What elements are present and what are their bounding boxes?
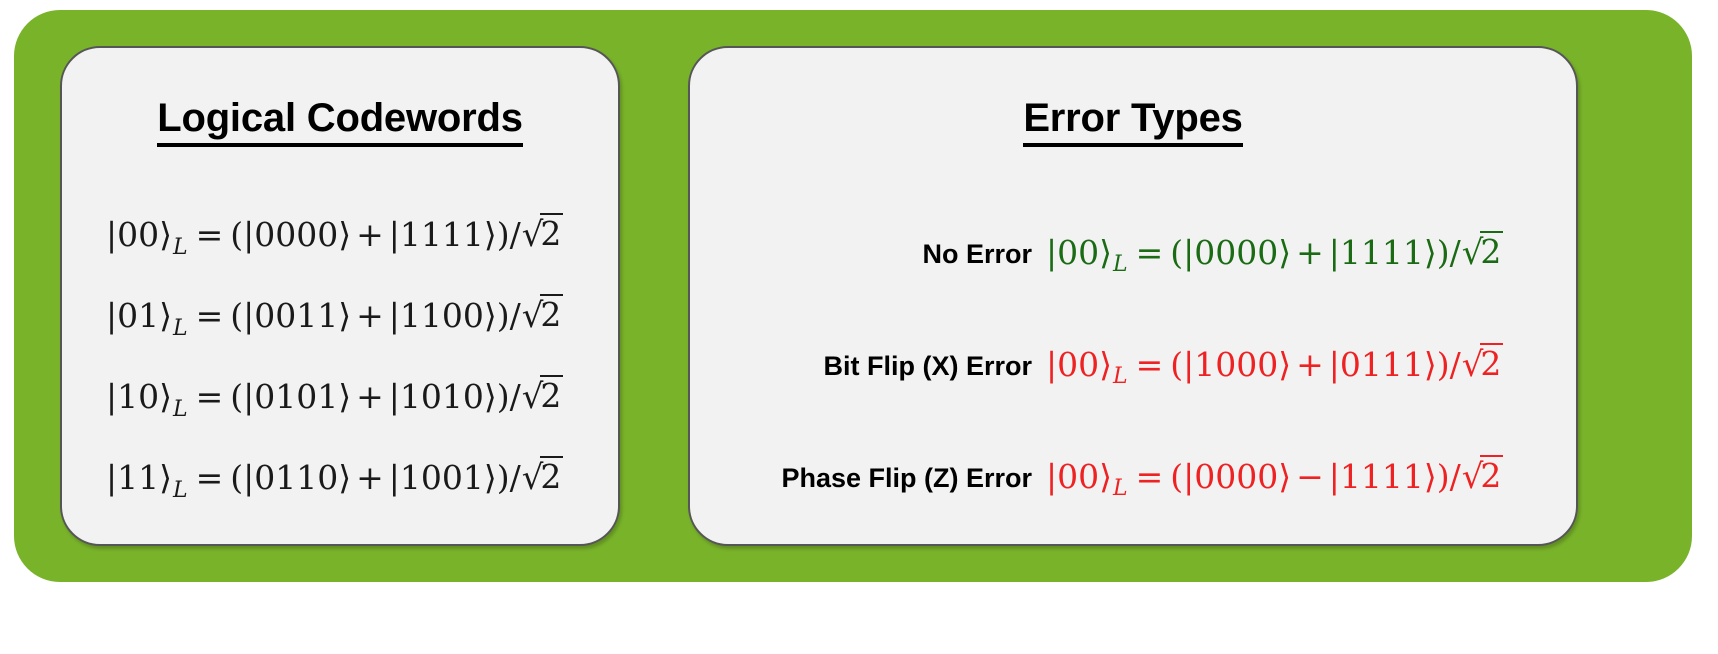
ket-label: |00⟩ — [1046, 345, 1112, 384]
green-outer-frame: Logical Codewords |00⟩L=(|0000⟩+|1111⟩)/… — [14, 10, 1692, 582]
square-root: √2 — [521, 376, 564, 414]
state-equation: |00⟩L=(|1000⟩+|0111⟩)/√2 — [1046, 344, 1503, 388]
radicand: 2 — [1480, 343, 1503, 380]
radicand: 2 — [1480, 455, 1503, 492]
codeword-row: |00⟩L=(|0000⟩+|1111⟩)/√2 — [106, 196, 586, 277]
error-list: No Error|00⟩L=(|0000⟩+|1111⟩)/√2Bit Flip… — [714, 198, 1556, 534]
ket-label: |01⟩ — [106, 296, 172, 335]
logical-codewords-card: Logical Codewords |00⟩L=(|0000⟩+|1111⟩)/… — [60, 46, 620, 546]
square-root: √2 — [1461, 232, 1504, 270]
state-equation: |10⟩L=(|0101⟩+|1010⟩)/√2 — [106, 376, 563, 420]
close-paren-slash: )/ — [497, 458, 521, 497]
term-two: |1111⟩ — [389, 215, 497, 254]
operator-sign: + — [1291, 345, 1329, 384]
equals-sign: = — [1129, 345, 1171, 384]
close-paren-slash: )/ — [1437, 345, 1461, 384]
term-two: |1111⟩ — [1329, 233, 1437, 272]
state-equation: |11⟩L=(|0110⟩+|1001⟩)/√2 — [106, 457, 563, 501]
equals-sign: = — [189, 458, 231, 497]
square-root: √2 — [521, 295, 564, 333]
term-two: |1111⟩ — [1329, 457, 1437, 496]
error-type-label: Phase Flip (Z) Error — [714, 463, 1046, 494]
codeword-row: |01⟩L=(|0011⟩+|1100⟩)/√2 — [106, 277, 586, 358]
radicand: 2 — [1480, 231, 1503, 268]
state-equation: |01⟩L=(|0011⟩+|1100⟩)/√2 — [106, 295, 563, 339]
term-one: |0101⟩ — [243, 377, 351, 416]
open-paren: ( — [230, 377, 243, 416]
open-paren: ( — [1170, 345, 1183, 384]
ket-subscript: L — [172, 397, 189, 422]
ket-label: |00⟩ — [1046, 233, 1112, 272]
equals-sign: = — [1129, 457, 1171, 496]
state-equation: |00⟩L=(|0000⟩+|1111⟩)/√2 — [106, 214, 563, 258]
error-row: Phase Flip (Z) Error|00⟩L=(|0000⟩−|1111⟩… — [714, 422, 1556, 534]
error-types-card: Error Types No Error|00⟩L=(|0000⟩+|1111⟩… — [688, 46, 1578, 546]
operator-sign: + — [351, 215, 389, 254]
square-root: √2 — [1461, 456, 1504, 494]
error-state-equation-wrapper: |00⟩L=(|0000⟩−|1111⟩)/√2 — [1046, 456, 1503, 500]
error-type-label: Bit Flip (X) Error — [714, 351, 1046, 382]
operator-sign: + — [351, 377, 389, 416]
square-root: √2 — [1461, 344, 1504, 382]
equals-sign: = — [189, 215, 231, 254]
open-paren: ( — [1170, 457, 1183, 496]
open-paren: ( — [230, 458, 243, 497]
ket-subscript: L — [1112, 252, 1129, 277]
close-paren-slash: )/ — [497, 377, 521, 416]
error-types-title-text: Error Types — [1023, 96, 1242, 147]
codeword-row: |11⟩L=(|0110⟩+|1001⟩)/√2 — [106, 439, 586, 520]
term-one: |0011⟩ — [243, 296, 351, 335]
ket-label: |00⟩ — [106, 215, 172, 254]
ket-subscript: L — [1112, 476, 1129, 501]
ket-label: |00⟩ — [1046, 457, 1112, 496]
close-paren-slash: )/ — [497, 296, 521, 335]
close-paren-slash: )/ — [497, 215, 521, 254]
operator-sign: + — [351, 296, 389, 335]
radicand: 2 — [540, 213, 563, 250]
operator-sign: + — [351, 458, 389, 497]
error-state-equation-wrapper: |00⟩L=(|0000⟩+|1111⟩)/√2 — [1046, 232, 1503, 276]
ket-label: |10⟩ — [106, 377, 172, 416]
term-one: |0000⟩ — [243, 215, 351, 254]
term-two: |1100⟩ — [389, 296, 497, 335]
ket-subscript: L — [172, 478, 189, 503]
error-state-equation-wrapper: |00⟩L=(|1000⟩+|0111⟩)/√2 — [1046, 344, 1503, 388]
square-root: √2 — [521, 214, 564, 252]
close-paren-slash: )/ — [1437, 457, 1461, 496]
ket-label: |11⟩ — [106, 458, 172, 497]
term-one: |1000⟩ — [1183, 345, 1291, 384]
quantum-code-figure: Logical Codewords |00⟩L=(|0000⟩+|1111⟩)/… — [0, 0, 1718, 654]
close-paren-slash: )/ — [1437, 233, 1461, 272]
ket-subscript: L — [172, 235, 189, 260]
open-paren: ( — [230, 296, 243, 335]
term-two: |1001⟩ — [389, 458, 497, 497]
open-paren: ( — [230, 215, 243, 254]
state-equation: |00⟩L=(|0000⟩−|1111⟩)/√2 — [1046, 456, 1503, 500]
logical-codewords-title: Logical Codewords — [62, 96, 618, 141]
radicand: 2 — [540, 375, 563, 412]
term-one: |0000⟩ — [1183, 457, 1291, 496]
codeword-list: |00⟩L=(|0000⟩+|1111⟩)/√2|01⟩L=(|0011⟩+|1… — [106, 196, 586, 520]
logical-codewords-title-text: Logical Codewords — [157, 96, 523, 147]
radicand: 2 — [540, 456, 563, 493]
error-row: No Error|00⟩L=(|0000⟩+|1111⟩)/√2 — [714, 198, 1556, 310]
term-one: |0000⟩ — [1183, 233, 1291, 272]
term-two: |0111⟩ — [1329, 345, 1437, 384]
radicand: 2 — [540, 294, 563, 331]
ket-subscript: L — [1112, 364, 1129, 389]
equals-sign: = — [189, 377, 231, 416]
square-root: √2 — [521, 457, 564, 495]
operator-sign: + — [1291, 233, 1329, 272]
error-types-title: Error Types — [690, 96, 1576, 141]
operator-sign: − — [1291, 457, 1329, 496]
equals-sign: = — [1129, 233, 1171, 272]
equals-sign: = — [189, 296, 231, 335]
term-one: |0110⟩ — [243, 458, 351, 497]
error-type-label: No Error — [714, 239, 1046, 270]
open-paren: ( — [1170, 233, 1183, 272]
state-equation: |00⟩L=(|0000⟩+|1111⟩)/√2 — [1046, 232, 1503, 276]
term-two: |1010⟩ — [389, 377, 497, 416]
ket-subscript: L — [172, 316, 189, 341]
error-row: Bit Flip (X) Error|00⟩L=(|1000⟩+|0111⟩)/… — [714, 310, 1556, 422]
codeword-row: |10⟩L=(|0101⟩+|1010⟩)/√2 — [106, 358, 586, 439]
